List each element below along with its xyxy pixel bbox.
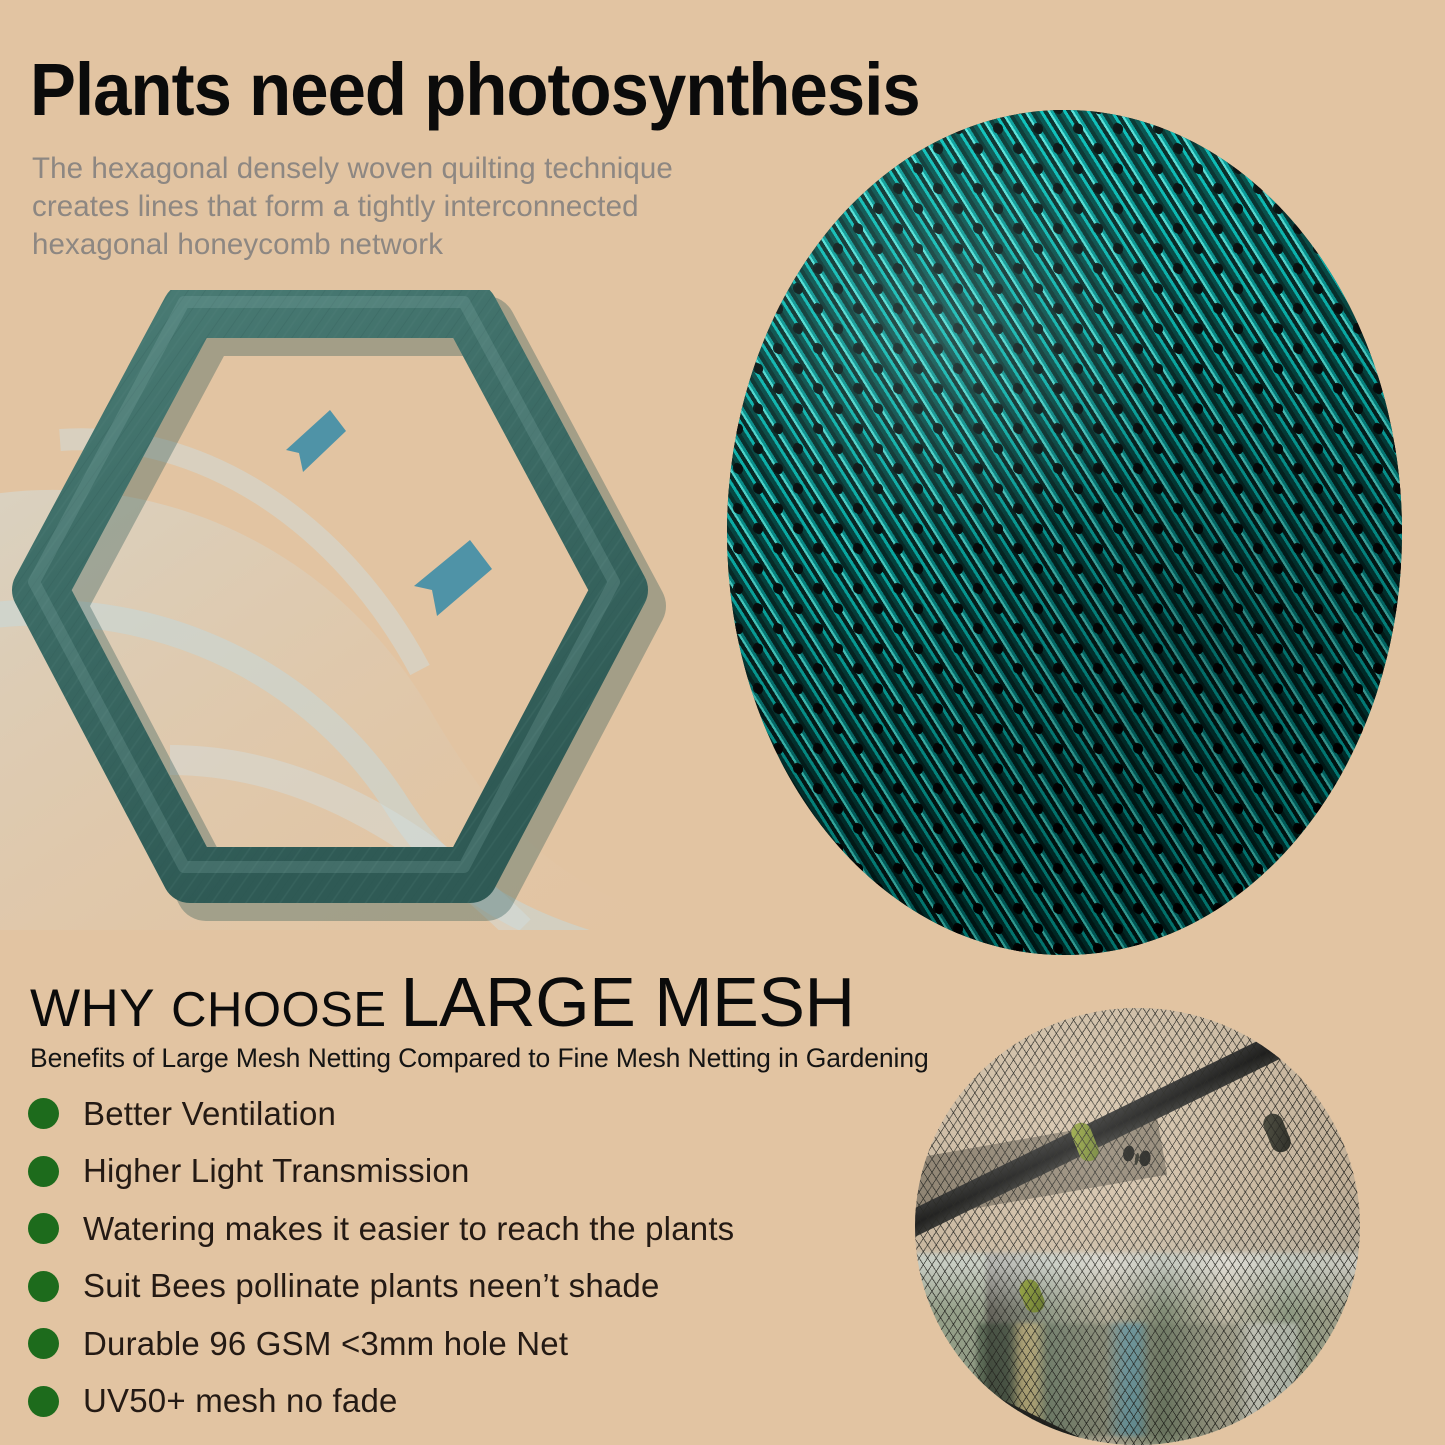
bullet-dot-icon — [28, 1098, 59, 1129]
list-item: Watering makes it easier to reach the pl… — [28, 1200, 908, 1258]
benefit-label: Better Ventilation — [83, 1095, 336, 1133]
bullet-dot-icon — [28, 1213, 59, 1244]
list-item: Durable 96 GSM <3mm hole Net — [28, 1315, 908, 1373]
bullet-dot-icon — [28, 1271, 59, 1302]
photo-vignette — [915, 1008, 1360, 1445]
benefit-label: Durable 96 GSM <3mm hole Net — [83, 1325, 568, 1363]
garden-netting-photo-circle — [915, 1008, 1360, 1445]
list-item: Suit Bees pollinate plants neen’t shade — [28, 1258, 908, 1316]
benefit-label: Higher Light Transmission — [83, 1152, 470, 1190]
mesh-photo-circle — [727, 110, 1402, 955]
bullet-dot-icon — [28, 1386, 59, 1417]
mesh-fold-shading — [727, 110, 1402, 955]
infographic-canvas: Plants need photosynthesis The hexagonal… — [0, 0, 1445, 1445]
bullet-dot-icon — [28, 1156, 59, 1187]
benefits-list: Better Ventilation Higher Light Transmis… — [28, 1085, 908, 1430]
heading-large-mesh: LARGE MESH — [401, 963, 855, 1041]
page-title: Plants need photosynthesis — [30, 52, 920, 128]
page-subtitle: The hexagonal densely woven quilting tec… — [32, 150, 742, 264]
hexagon-illustration — [0, 290, 680, 930]
benefit-label: UV50+ mesh no fade — [83, 1382, 398, 1420]
heading-why: WHY — [30, 979, 155, 1038]
benefit-label: Suit Bees pollinate plants neen’t shade — [83, 1267, 660, 1305]
list-item: UV50+ mesh no fade — [28, 1373, 908, 1431]
benefit-label: Watering makes it easier to reach the pl… — [83, 1210, 734, 1248]
section-heading: WHYCHOOSELARGE MESH — [30, 962, 855, 1042]
list-item: Better Ventilation — [28, 1085, 908, 1143]
heading-choose: CHOOSE — [171, 983, 386, 1037]
section-subheading: Benefits of Large Mesh Netting Compared … — [30, 1043, 929, 1074]
bullet-dot-icon — [28, 1328, 59, 1359]
list-item: Higher Light Transmission — [28, 1143, 908, 1201]
